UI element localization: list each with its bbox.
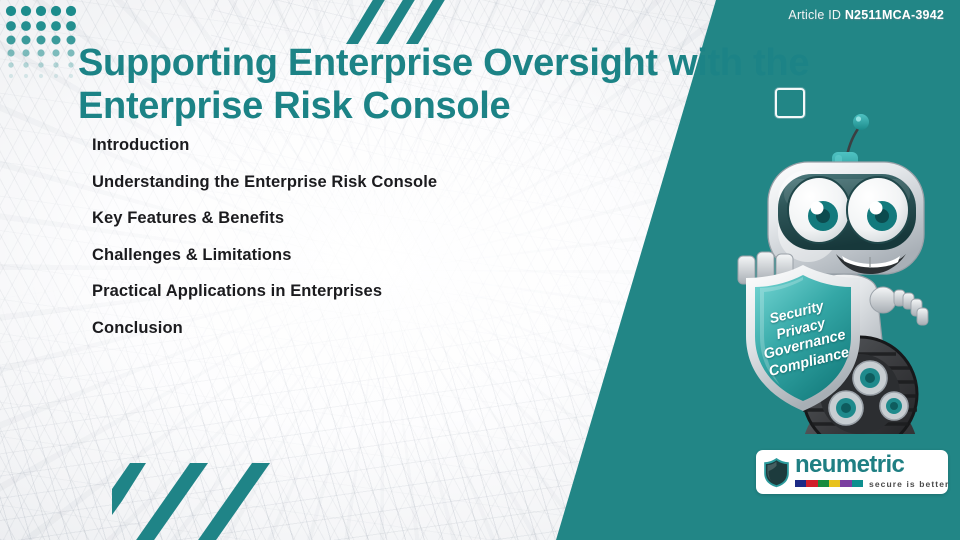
agenda-item: Practical Applications in Enterprises (92, 283, 632, 300)
article-id: Article ID N2511MCA-3942 (788, 8, 944, 22)
presentation-slide: Article ID N2511MCA-3942 Supporting Ente… (0, 0, 960, 540)
dot-grid-icon (4, 4, 78, 82)
diagonal-stripes-top-icon (318, 0, 448, 44)
brand-logo: neumetric secure is better (756, 450, 948, 494)
agenda-item: Challenges & Limitations (92, 247, 632, 264)
brand-name: neumetric (795, 454, 949, 477)
diagonal-stripes-bottom-icon (112, 455, 292, 540)
article-id-label: Article ID (788, 8, 841, 22)
agenda-item: Conclusion (92, 320, 632, 337)
brand-logo-text: neumetric secure is better (795, 455, 949, 489)
brand-shield-icon (763, 457, 790, 488)
agenda-item: Key Features & Benefits (92, 210, 632, 227)
brand-tagline: secure is better (869, 479, 949, 489)
security-shield-icon: Security Privacy Governance Compliance (738, 262, 868, 414)
brand-color-bars-icon (795, 480, 863, 487)
agenda-item: Understanding the Enterprise Risk Consol… (92, 174, 632, 191)
article-id-value: N2511MCA-3942 (845, 8, 944, 22)
agenda-list: Introduction Understanding the Enterpris… (92, 137, 632, 356)
brand-logo-bottom: secure is better (795, 479, 949, 489)
agenda-item: Introduction (92, 137, 632, 154)
